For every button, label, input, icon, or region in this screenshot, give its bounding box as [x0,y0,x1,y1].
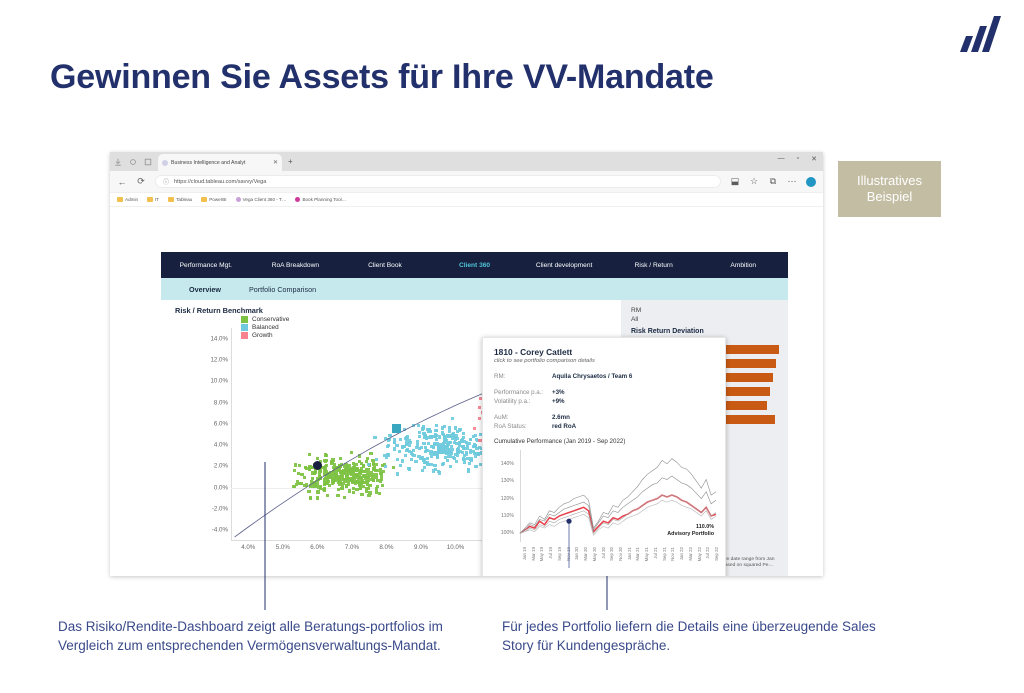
scatter-point[interactable] [368,474,371,477]
scatter-point[interactable] [338,466,341,469]
scatter-point[interactable] [368,491,371,494]
y-axis-tick: 6.0% [214,420,228,427]
scatter-point[interactable] [384,465,387,468]
scatter-point[interactable] [478,417,481,420]
address-bar[interactable]: ⓘ https://cloud.tableau.com/savvy/Vega [155,175,721,188]
scatter-point[interactable] [381,484,384,487]
benchmark-marker[interactable] [313,461,322,470]
scatter-point[interactable] [469,438,472,441]
y-axis-tick: -2.0% [212,506,228,513]
legend-label: Conservative [252,316,289,323]
site-info-icon[interactable]: ⓘ [163,177,169,186]
scatter-point[interactable] [393,447,396,450]
scatter-point[interactable] [380,478,383,481]
scatter-point[interactable] [330,461,333,464]
browser-nav-bar: ← ⟳ ⓘ https://cloud.tableau.com/savvy/Ve… [110,171,823,193]
scatter-point[interactable] [305,483,308,486]
scatter-point[interactable] [331,479,334,482]
bookmark-label: PowerBI [209,197,226,202]
scatter-point[interactable] [292,485,295,488]
scatter-point[interactable] [316,496,319,499]
badge-line-2: Beispiel [867,189,913,205]
scatter-point[interactable] [421,456,424,459]
bookmark-label: Admin [125,197,138,202]
y-axis-tick: 14.0% [210,335,228,342]
tooltip-key: Performance p.a.: [494,389,552,396]
scatter-point[interactable] [355,488,358,491]
bookmark-label: Vega Client 360 - T… [243,197,287,202]
scatter-point[interactable] [418,435,421,438]
y-axis-tick: 2.0% [214,463,228,470]
tooltip-row-roa-status: RoA Status: red RoA [494,423,714,430]
scatter-point[interactable] [456,453,459,456]
x-axis-tick: 9.0% [414,544,428,551]
scatter-point[interactable] [465,451,468,454]
slide-root: Gewinnen Sie Assets für Ihre VV-Mandate … [0,0,1024,693]
rm-filter-label: RM [631,306,641,315]
back-button[interactable]: ← [117,177,127,187]
scatter-point[interactable] [404,454,407,457]
scatter-point[interactable] [412,424,415,427]
dashboard-nav-roa-breakdown[interactable]: RoA Breakdown [251,262,341,269]
scatter-point[interactable] [326,494,329,497]
scatter-point[interactable] [436,454,439,457]
scatter-point[interactable] [435,424,438,427]
scatter-point[interactable] [434,429,437,432]
scatter-point[interactable] [433,464,436,467]
scatter-point[interactable] [445,439,448,442]
scatter-point[interactable] [396,458,399,461]
bookmark-item[interactable]: Admin [117,197,138,202]
benchmark-marker[interactable] [392,424,401,433]
scatter-point[interactable] [447,455,450,458]
caption-left: Das Risiko/Rendite-Dashboard zeigt alle … [58,617,458,655]
site-icon [295,197,300,202]
tooltip-value: +3% [552,389,565,396]
scatter-point[interactable] [333,469,336,472]
scatter-point[interactable] [338,482,341,485]
scatter-point[interactable] [389,434,392,437]
scatter-point[interactable] [430,455,433,458]
scatter-point[interactable] [339,457,342,460]
scatter-point[interactable] [335,466,338,469]
scatter-point[interactable] [308,453,311,456]
scatter-point[interactable] [316,457,319,460]
scatter-point[interactable] [416,440,419,443]
new-tab-button[interactable]: + [288,157,293,166]
tooltip-key: RoA Status: [494,423,552,430]
scatter-point[interactable] [463,461,466,464]
scatter-point[interactable] [401,459,404,462]
tooltip-value: 2.6mn [552,414,570,421]
scatter-point[interactable] [373,466,376,469]
scatter-point[interactable] [294,463,297,466]
address-bar-url: https://cloud.tableau.com/savvy/Vega [174,179,266,185]
profile-avatar[interactable] [806,177,816,187]
scatter-point[interactable] [399,438,402,441]
scatter-point[interactable] [337,477,340,480]
scatter-point[interactable] [309,497,312,500]
scatter-point[interactable] [360,467,363,470]
tooltip-chart-title: Cumulative Performance (Jan 2019 - Sep 2… [494,438,714,445]
scatter-point[interactable] [417,455,420,458]
scatter-point[interactable] [307,490,310,493]
legend-item-conservative[interactable]: Conservative [241,316,289,323]
folder-icon [117,197,123,202]
scatter-point[interactable] [412,454,415,457]
scatter-point[interactable] [399,464,402,467]
scatter-point[interactable] [346,468,349,471]
scatter-point[interactable] [403,428,406,431]
scatter-point[interactable] [361,470,364,473]
scatter-point[interactable] [373,436,376,439]
download-icon[interactable] [114,158,122,166]
page-title: Gewinnen Sie Assets für Ihre VV-Mandate [50,58,714,97]
y-axis-tick: 8.0% [214,399,228,406]
tooltip-row-performance: Performance p.a.: +3% [494,389,714,396]
bookmark-label: IT [155,197,159,202]
scatter-point[interactable] [434,433,437,436]
scatter-point[interactable] [367,494,370,497]
dashboard-nav-client-360[interactable]: Client 360 [430,262,520,269]
window-close-button[interactable]: ✕ [811,155,817,163]
scatter-point[interactable] [429,463,432,466]
scatter-point[interactable] [362,474,365,477]
scatter-point[interactable] [383,454,386,457]
scatter-point[interactable] [432,446,435,449]
scatter-point[interactable] [472,435,475,438]
tooltip-rm-row: RM: Aquila Chrysaetos / Team 6 [494,373,714,380]
scatter-point[interactable] [443,425,446,428]
scatter-point[interactable] [423,461,426,464]
scatter-point[interactable] [451,437,454,440]
scatter-point[interactable] [352,491,355,494]
scatter-point[interactable] [367,463,370,466]
scatter-point[interactable] [388,438,391,441]
company-logo-icon [940,16,1002,52]
dashboard-nav-ambition[interactable]: Ambition [698,262,788,269]
scatter-point[interactable] [384,437,387,440]
scatter-point[interactable] [358,460,361,463]
scatter-point[interactable] [375,473,378,476]
scatter-point[interactable] [360,482,363,485]
y-axis-tick: 0.0% [214,484,228,491]
scatter-point[interactable] [314,471,317,474]
mini-chart-lines [494,450,716,568]
scatter-point[interactable] [458,443,461,446]
dashboard-nav-client-book[interactable]: Client Book [340,262,430,269]
bookmark-item[interactable]: IT [147,197,159,202]
tooltip-row-volatility: Volatility p.a.: +9% [494,398,714,405]
scatter-point[interactable] [303,476,306,479]
window-maximize-button[interactable]: ▫ [797,155,799,163]
x-axis-tick: 6.0% [310,544,324,551]
scatter-point[interactable] [451,417,454,420]
dashboard-nav-risk-return[interactable]: Risk / Return [609,262,699,269]
rm-filter[interactable]: RM All [631,306,641,324]
scatter-point[interactable] [351,478,354,481]
scatter-point[interactable] [324,453,327,456]
tooltip-rm-value: Aquila Chrysaetos / Team 6 [552,373,632,380]
scatter-point[interactable] [414,460,417,463]
scatter-point[interactable] [456,430,459,433]
scatter-point[interactable] [435,438,438,441]
scatter-point[interactable] [337,488,340,491]
scatter-point[interactable] [358,454,361,457]
scatter-point[interactable] [309,485,312,488]
scatter-point[interactable] [417,424,420,427]
scatter-point[interactable] [341,470,344,473]
scatter-point[interactable] [387,444,390,447]
tooltip-value: +9% [552,398,565,405]
browser-tab[interactable]: Business Intelligence and Analyt ✕ [158,154,282,171]
scatter-point[interactable] [354,469,357,472]
scatter-point[interactable] [345,477,348,480]
scatter-point[interactable] [343,496,346,499]
scatter-point[interactable] [311,477,314,480]
scatter-point[interactable] [341,485,344,488]
scatter-point[interactable] [293,469,296,472]
y-axis-tick: 10.0% [210,378,228,385]
scatter-point[interactable] [299,482,302,485]
scatter-point[interactable] [426,461,429,464]
scatter-point[interactable] [298,464,301,467]
scatter-point[interactable] [326,480,329,483]
tab-favicon-icon [162,160,168,166]
scatter-point[interactable] [378,492,381,495]
scatter-point[interactable] [358,475,361,478]
settings-gear-icon[interactable] [129,158,137,166]
scatter-point[interactable] [392,466,395,469]
scatter-point[interactable] [426,428,429,431]
scatter-point[interactable] [347,482,350,485]
collections-icon[interactable]: ⧉ [768,176,778,187]
tooltip-row-aum: AuM: 2.6mn [494,414,714,421]
scatter-point[interactable] [374,469,377,472]
y-axis-tick: 4.0% [214,442,228,449]
scatter-point[interactable] [375,463,378,466]
scatter-point[interactable] [348,464,351,467]
scatter-point[interactable] [408,467,411,470]
scatter-point[interactable] [406,435,409,438]
scatter-point[interactable] [478,406,481,409]
scatter-point[interactable] [474,455,477,458]
x-axis-tick: 7.0% [345,544,359,551]
browser-menu-icon[interactable]: ⋯ [787,176,797,187]
scatter-point[interactable] [405,441,408,444]
scatter-point[interactable] [336,494,339,497]
tooltip-key: Volatility p.a.: [494,398,552,405]
benchmark-marker[interactable] [437,445,446,454]
scatter-point[interactable] [350,451,353,454]
scatter-point[interactable] [469,457,472,460]
bookmark-item[interactable]: Book Planning Tool… [295,197,346,202]
folder-icon [201,197,207,202]
scatter-point[interactable] [375,458,378,461]
y-axis-tick: -4.0% [212,527,228,534]
scatter-point[interactable] [453,457,456,460]
scatter-point[interactable] [410,458,413,461]
scatter-point[interactable] [446,443,449,446]
scatter-point[interactable] [316,477,319,480]
tab-title: Business Intelligence and Analyt [171,160,270,166]
reload-button[interactable]: ⟳ [136,176,146,187]
scatter-point[interactable] [434,468,437,471]
tooltip-value: red RoA [552,423,576,430]
scatter-point[interactable] [360,493,363,496]
tooltip-title: 1810 - Corey Catlett [494,347,714,357]
dashboard-nav: Performance Mgt. RoA Breakdown Client Bo… [161,252,788,278]
scatter-point[interactable] [418,431,421,434]
scatter-point[interactable] [456,437,459,440]
scatter-point[interactable] [368,484,371,487]
scatter-point[interactable] [467,469,470,472]
browser-tab-strip: Business Intelligence and Analyt ✕ + — ▫… [110,152,823,171]
scatter-point[interactable] [423,432,426,435]
browser-window: Business Intelligence and Analyt ✕ + — ▫… [110,152,823,576]
bookmark-item[interactable]: PowerBI [201,197,226,202]
tooltip-key: AuM: [494,414,552,421]
scatter-point[interactable] [469,449,472,452]
tab-overview[interactable]: Overview [189,285,221,294]
tab-close-icon[interactable]: ✕ [273,159,278,166]
scatter-point[interactable] [350,473,353,476]
scatter-point[interactable] [325,472,328,475]
scatter-point[interactable] [448,429,451,432]
scatter-point[interactable] [425,449,428,452]
caption-right: Für jedes Portfolio liefern die Details … [502,617,882,655]
scatter-point[interactable] [446,459,449,462]
dashboard-nav-performance-mgt[interactable]: Performance Mgt. [161,262,251,269]
scatter-point[interactable] [351,468,354,471]
scatter-point[interactable] [300,473,303,476]
chart-title: Risk / Return Benchmark [175,306,263,315]
scatter-point[interactable] [442,462,445,465]
bookmark-label: Tableau [176,197,192,202]
scatter-point[interactable] [427,442,430,445]
bookmark-item[interactable]: Vega Client 360 - T… [236,197,287,202]
scatter-point[interactable] [328,484,331,487]
scatter-point[interactable] [393,438,396,441]
scatter-point[interactable] [314,483,317,486]
scatter-point[interactable] [462,457,465,460]
scatter-point[interactable] [474,465,477,468]
scatter-point[interactable] [395,444,398,447]
scatter-point[interactable] [475,438,478,441]
tooltip-rm-key: RM: [494,373,552,380]
scatter-point[interactable] [408,439,411,442]
scatter-point[interactable] [427,436,430,439]
illustrative-example-badge: Illustratives Beispiel [838,161,941,217]
scatter-point[interactable] [324,460,327,463]
scatter-point[interactable] [376,479,379,482]
x-axis-tick: 4.0% [241,544,255,551]
scatter-point[interactable] [441,431,444,434]
portfolio-tooltip-card[interactable]: 1810 - Corey Catlett click to see portfo… [482,337,726,576]
tableau-dashboard: Performance Mgt. RoA Breakdown Client Bo… [110,207,823,576]
scatter-point[interactable] [352,487,355,490]
scatter-point[interactable] [316,490,319,493]
scatter-point[interactable] [341,482,344,485]
scatter-point[interactable] [426,457,429,460]
x-axis-tick: 8.0% [379,544,393,551]
scatter-point[interactable] [396,472,399,475]
scatter-point[interactable] [421,469,424,472]
scatter-point[interactable] [340,463,343,466]
scatter-point[interactable] [334,473,337,476]
window-controls: — ▫ ✕ [778,155,817,163]
legend-swatch-icon [241,316,248,323]
scatter-point[interactable] [401,446,404,449]
scatter-point[interactable] [379,472,382,475]
scatter-point[interactable] [473,445,476,448]
scatter-point[interactable] [422,425,425,428]
rm-filter-value: All [631,315,641,324]
right-panel-title: Risk Return Deviation [631,328,704,335]
extensions-icon[interactable]: ⬓ [730,176,740,187]
y-axis-tick: 12.0% [210,356,228,363]
scatter-point[interactable] [429,450,432,453]
scatter-point[interactable] [463,440,466,443]
scatter-point[interactable] [370,478,373,481]
scatter-point[interactable] [446,434,449,437]
bookmark-label: Book Planning Tool… [302,197,346,202]
x-axis-tick: 10.0% [447,544,465,551]
bookmark-item[interactable]: Tableau [168,197,192,202]
scatter-point[interactable] [478,446,481,449]
folder-icon [147,197,153,202]
scatter-point[interactable] [365,490,368,493]
folder-icon [168,197,174,202]
scatter-point[interactable] [322,488,325,491]
cumulative-performance-chart: 110.0% Advisory Portfolio 100%110%120%13… [494,450,716,568]
badge-line-1: Illustratives [857,173,922,189]
scatter-point[interactable] [369,452,372,455]
scatter-point[interactable] [449,465,452,468]
x-axis-tick: 5.0% [276,544,290,551]
dashboard-subnav: Overview Portfolio Comparison [161,278,788,300]
scatter-point[interactable] [418,447,421,450]
scatter-point[interactable] [473,427,476,430]
scatter-point[interactable] [408,450,411,453]
site-icon [236,197,241,202]
scatter-point[interactable] [448,426,451,429]
scatter-point[interactable] [398,450,401,453]
scatter-point[interactable] [449,451,452,454]
scatter-point[interactable] [376,485,379,488]
bookmark-star-icon[interactable]: ☆ [749,176,759,187]
tab-list-icon[interactable] [144,158,152,166]
window-minimize-button[interactable]: — [778,155,785,163]
scatter-point[interactable] [468,462,471,465]
bookmarks-bar: Admin IT Tableau PowerBI Vega Client 360… [110,193,823,207]
scatter-point[interactable] [438,471,441,474]
dashboard-nav-client-development[interactable]: Client development [519,262,609,269]
tab-portfolio-comparison[interactable]: Portfolio Comparison [249,285,316,294]
